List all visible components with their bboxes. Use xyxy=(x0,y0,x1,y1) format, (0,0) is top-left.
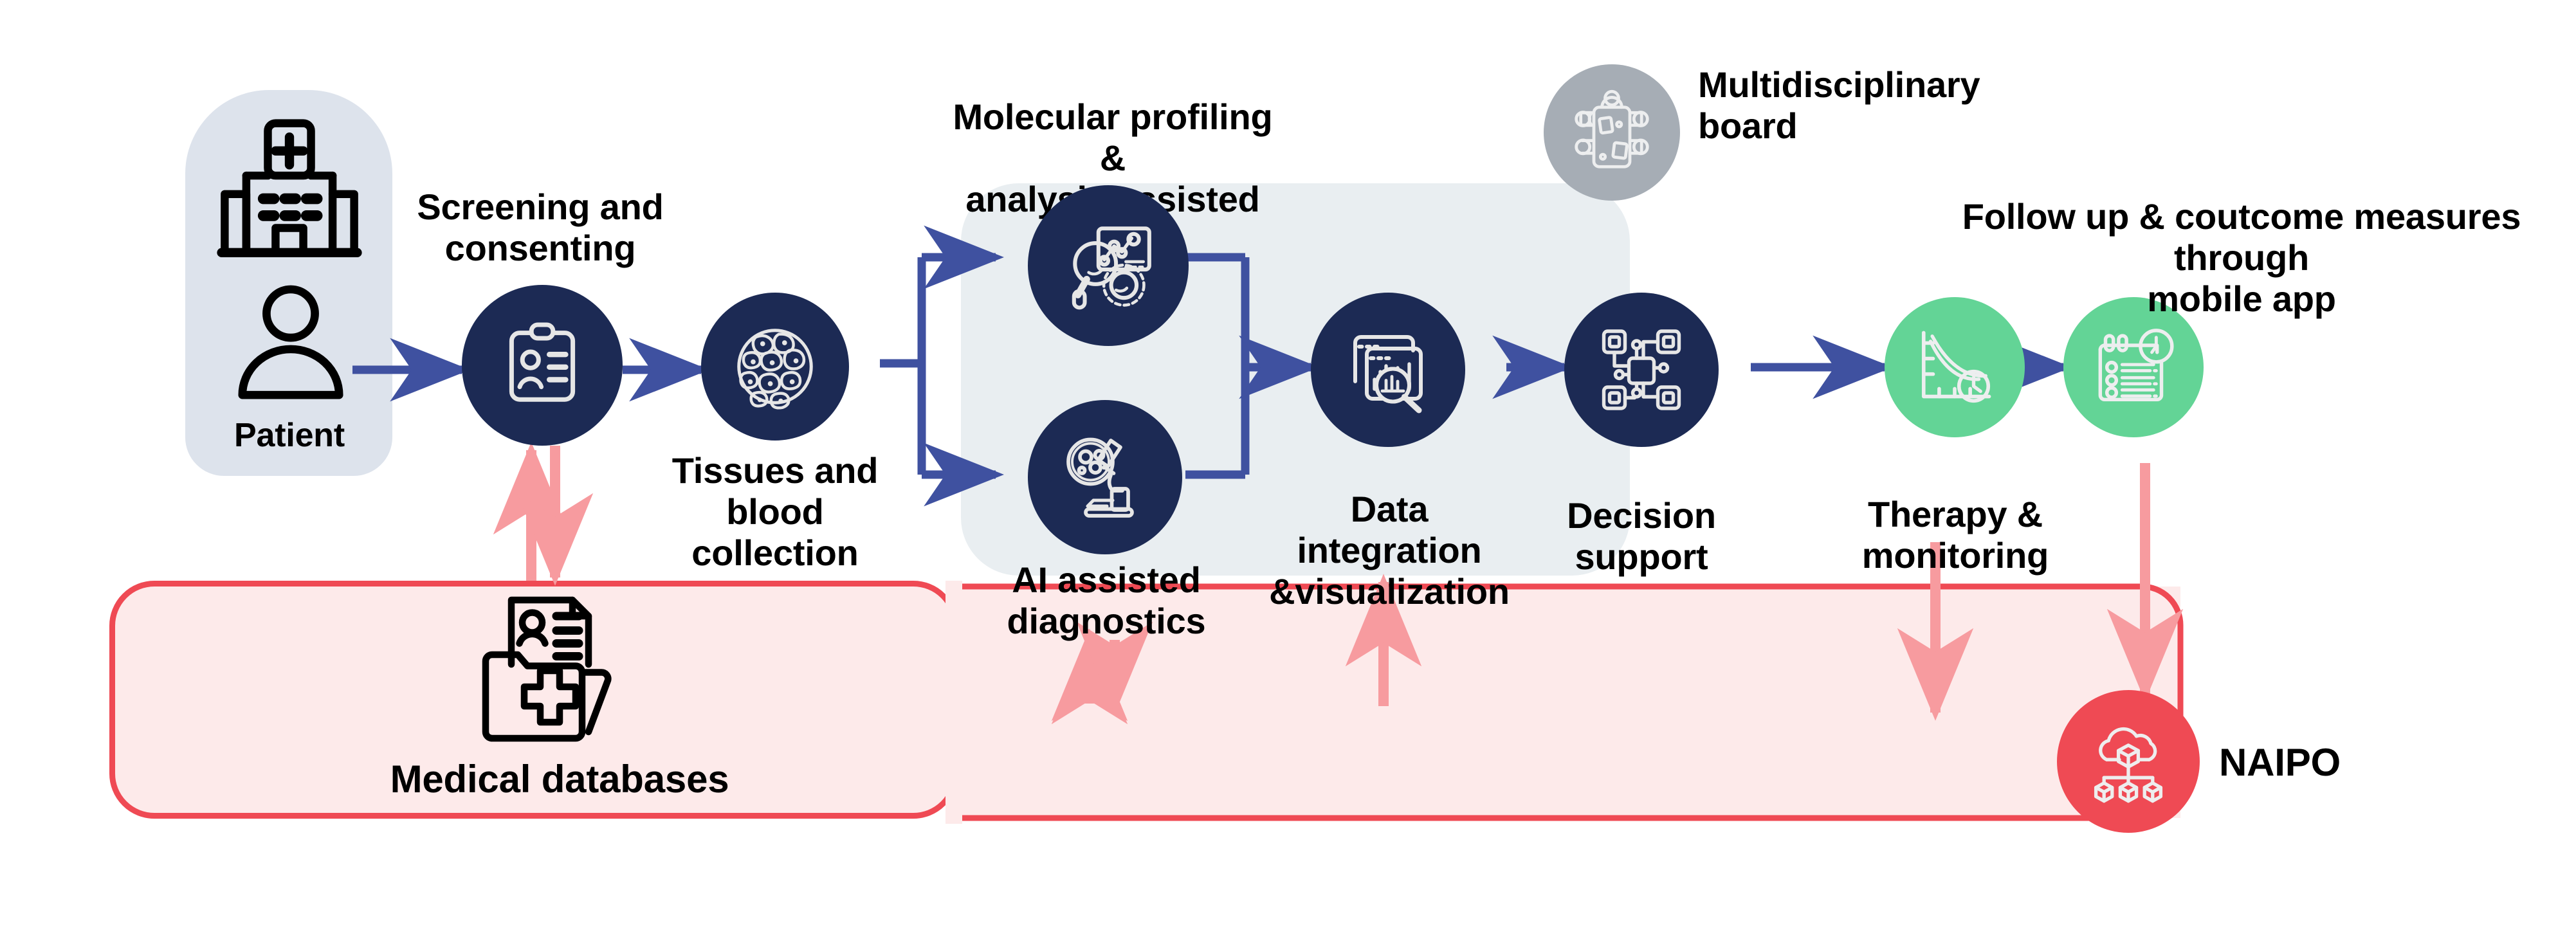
microscope-petri-icon xyxy=(1057,429,1153,525)
meeting-table-icon xyxy=(1567,87,1657,177)
followup-label: Follow up & coutcome measures through mo… xyxy=(1923,196,2560,319)
ai-diagnostics-label: AI assisted diagnostics xyxy=(965,559,1248,642)
screening-node[interactable] xyxy=(462,285,623,446)
screening-label: Screening and consenting xyxy=(399,186,682,269)
patient-node xyxy=(226,283,355,405)
medical-databases-node xyxy=(473,590,640,745)
workflow-diagram: Patient Screening and consenting xyxy=(0,0,2576,946)
board-node[interactable] xyxy=(1544,64,1680,201)
decision-support-node[interactable] xyxy=(1564,293,1719,447)
person-icon xyxy=(226,397,355,408)
hospital-node xyxy=(212,117,367,265)
decision-support-label: Decision support xyxy=(1524,495,1758,578)
cloud-nodes-icon xyxy=(2083,716,2173,806)
medical-databases-label: Medical databases xyxy=(360,758,759,801)
tissues-node[interactable] xyxy=(701,293,849,441)
naipo-node[interactable] xyxy=(2057,690,2200,833)
therapy-label: Therapy & monitoring xyxy=(1775,494,2135,576)
patient-label: Patient xyxy=(199,417,379,455)
tissues-label: Tissues and blood collection xyxy=(634,450,917,573)
naipo-label: NAIPO xyxy=(2219,741,2438,785)
checklist-clock-icon xyxy=(2090,323,2177,411)
hospital-icon xyxy=(212,257,367,268)
dashboard-magnifier-icon xyxy=(1340,322,1436,418)
chart-magnifier-gear-icon xyxy=(1059,217,1157,314)
molecular-node[interactable] xyxy=(1028,185,1189,346)
board-label: Multidisciplinary board xyxy=(1698,64,2007,147)
id-badge-icon xyxy=(497,320,587,410)
data-integration-node[interactable] xyxy=(1311,293,1465,447)
medical-folder-icon xyxy=(473,736,640,747)
cells-icon xyxy=(727,319,823,414)
data-integration-label: Data integration &visualization xyxy=(1261,489,1518,612)
ai-diagnostics-node[interactable] xyxy=(1028,400,1182,554)
circuit-network-icon xyxy=(1593,322,1690,418)
decay-curve-clock-icon xyxy=(1912,324,1998,410)
